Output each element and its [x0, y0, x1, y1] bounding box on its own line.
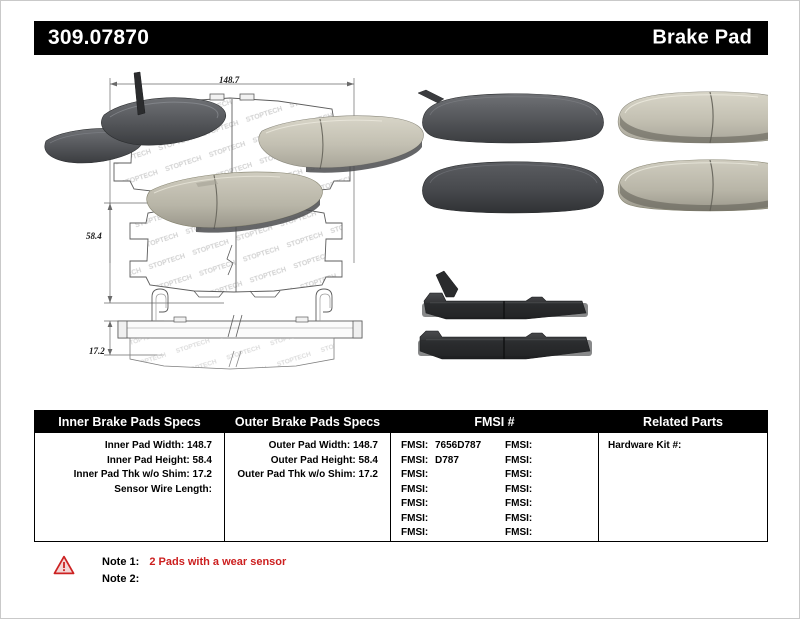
column-header-fmsi: FMSI #: [391, 411, 598, 433]
spec-label: Inner Pad Thk w/o Shim:: [74, 469, 190, 480]
spec-row-inner-pad-thickness: Inner Pad Thk w/o Shim: 17.2: [35, 468, 224, 483]
column-inner-specs: Inner Brake Pads Specs Inner Pad Width: …: [35, 411, 225, 541]
fmsi-label: FMSI:: [505, 527, 532, 538]
fmsi-cell-left-4: FMSI:: [401, 483, 505, 498]
column-body-inner-specs: Inner Pad Width: 148.7 Inner Pad Height:…: [35, 433, 224, 497]
fmsi-label: FMSI:: [505, 469, 532, 480]
spec-label: Outer Pad Thk w/o Shim:: [237, 469, 355, 480]
fmsi-value: [428, 484, 432, 495]
fmsi-cell-left-2: FMSI: D787: [401, 454, 505, 469]
fmsi-cell-right-5: FMSI:: [505, 497, 609, 512]
spec-row-outer-pad-width: Outer Pad Width: 148.7: [225, 439, 390, 454]
spec-label: Outer Pad Height:: [271, 455, 356, 466]
column-header-inner-specs: Inner Brake Pads Specs: [35, 411, 224, 433]
header-bar: 309.07870 Brake Pad: [34, 21, 768, 55]
fmsi-cell-left-3: FMSI:: [401, 468, 505, 483]
spec-label: Inner Pad Height:: [107, 455, 190, 466]
photo-pad-angled-2-with-sensor: [101, 72, 225, 145]
fmsi-label: FMSI:: [401, 484, 428, 495]
photo-pad-flat-2: [618, 92, 768, 143]
fmsi-cell-right-3: FMSI:: [505, 468, 609, 483]
spec-label: Inner Pad Width:: [105, 440, 184, 451]
fmsi-label: FMSI:: [505, 440, 532, 451]
fmsi-value: [428, 469, 432, 480]
datasheet-page: 309.07870 Brake Pad 148.7 58.4 17.2 STOP…: [0, 0, 800, 619]
photo-pad-flat-1: [418, 90, 604, 143]
related-row-hardware-kit: Hardware Kit #:: [599, 439, 767, 454]
spec-row-outer-pad-height: Outer Pad Height: 58.4: [225, 454, 390, 469]
spec-label: Outer Pad Width:: [269, 440, 351, 451]
fmsi-value: [532, 513, 536, 524]
fmsi-label: FMSI:: [505, 455, 532, 466]
product-type-title: Brake Pad: [652, 27, 752, 50]
fmsi-cell-right-6: FMSI:: [505, 512, 609, 527]
fmsi-value: D787: [431, 455, 459, 466]
photo-pad-angled-3: [259, 116, 424, 173]
spec-value: 58.4: [193, 455, 212, 466]
spec-value: 58.4: [359, 455, 378, 466]
illustration-area: 148.7 58.4 17.2 STOPTECH STOPTECH: [34, 63, 768, 393]
fmsi-value: [428, 513, 432, 524]
note-value-1: 2 Pads with a wear sensor: [142, 556, 286, 568]
note-line-1: Note 1: 2 Pads with a wear sensor: [102, 554, 286, 571]
fmsi-value: 7656D787: [431, 440, 481, 451]
fmsi-label: FMSI:: [401, 440, 428, 451]
photo-group-flat: [418, 90, 768, 213]
fmsi-cell-left-5: FMSI:: [401, 497, 505, 512]
spec-row-inner-pad-width: Inner Pad Width: 148.7: [35, 439, 224, 454]
spec-value: 17.2: [193, 469, 212, 480]
fmsi-label: FMSI:: [401, 469, 428, 480]
fmsi-value: [428, 527, 432, 538]
warning-triangle-icon: [53, 555, 75, 575]
photo-pad-flat-4: [618, 160, 768, 211]
column-related-parts: Related Parts Hardware Kit #:: [599, 411, 767, 541]
fmsi-cell-right-7: FMSI:: [505, 526, 609, 541]
photo-pad-flat-3: [422, 162, 603, 213]
fmsi-value: [428, 498, 432, 509]
fmsi-label: FMSI:: [401, 455, 428, 466]
fmsi-label: FMSI:: [401, 513, 428, 524]
part-number: 309.07870: [48, 26, 149, 50]
column-header-related-parts: Related Parts: [599, 411, 767, 433]
spec-value: 17.2: [359, 469, 378, 480]
fmsi-value: [532, 440, 536, 451]
spec-label: Sensor Wire Length:: [114, 484, 212, 495]
fmsi-label: FMSI:: [505, 513, 532, 524]
column-body-related-parts: Hardware Kit #:: [599, 433, 767, 454]
fmsi-cell-left-7: FMSI:: [401, 526, 505, 541]
note-lines: Note 1: 2 Pads with a wear sensor Note 2…: [102, 554, 286, 588]
photo-group-edge: [418, 271, 592, 359]
photo-pad-edge-1-with-sensor: [422, 271, 588, 319]
fmsi-cell-right-1: FMSI:: [505, 439, 609, 454]
spec-row-inner-pad-height: Inner Pad Height: 58.4: [35, 454, 224, 469]
spec-value: 148.7: [353, 440, 378, 451]
column-fmsi: FMSI # FMSI: 7656D787 FMSI: FMSI: D787 F…: [391, 411, 599, 541]
fmsi-label: FMSI:: [505, 484, 532, 495]
fmsi-label: FMSI:: [401, 498, 428, 509]
spec-value: 148.7: [187, 440, 212, 451]
fmsi-value: [532, 455, 536, 466]
column-body-outer-specs: Outer Pad Width: 148.7 Outer Pad Height:…: [225, 433, 390, 483]
specifications-table: Inner Brake Pads Specs Inner Pad Width: …: [34, 410, 768, 542]
note-value-2: [139, 573, 146, 585]
fmsi-label: FMSI:: [505, 498, 532, 509]
fmsi-value: [532, 527, 536, 538]
fmsi-cell-right-2: FMSI:: [505, 454, 609, 469]
fmsi-cell-left-1: FMSI: 7656D787: [401, 439, 505, 454]
photo-group-angled: [45, 72, 424, 233]
fmsi-cell-left-6: FMSI:: [401, 512, 505, 527]
spec-row-sensor-wire-length: Sensor Wire Length:: [35, 483, 224, 498]
product-photographs: [34, 63, 768, 393]
related-label: Hardware Kit #:: [608, 440, 681, 451]
fmsi-cell-right-4: FMSI:: [505, 483, 609, 498]
note-line-2: Note 2:: [102, 571, 286, 588]
note-label-1: Note 1:: [102, 556, 139, 568]
note-label-2: Note 2:: [102, 573, 139, 585]
fmsi-label: FMSI:: [401, 527, 428, 538]
column-body-fmsi: FMSI: 7656D787 FMSI: FMSI: D787 FMSI: FM…: [391, 433, 598, 541]
spec-row-outer-pad-thickness: Outer Pad Thk w/o Shim: 17.2: [225, 468, 390, 483]
fmsi-value: [532, 469, 536, 480]
photo-pad-edge-2: [418, 331, 592, 359]
column-outer-specs: Outer Brake Pads Specs Outer Pad Width: …: [225, 411, 391, 541]
photo-pad-angled-4: [147, 172, 323, 233]
fmsi-value: [532, 498, 536, 509]
fmsi-value: [532, 484, 536, 495]
notes-section: Note 1: 2 Pads with a wear sensor Note 2…: [53, 554, 286, 588]
column-header-outer-specs: Outer Brake Pads Specs: [225, 411, 390, 433]
